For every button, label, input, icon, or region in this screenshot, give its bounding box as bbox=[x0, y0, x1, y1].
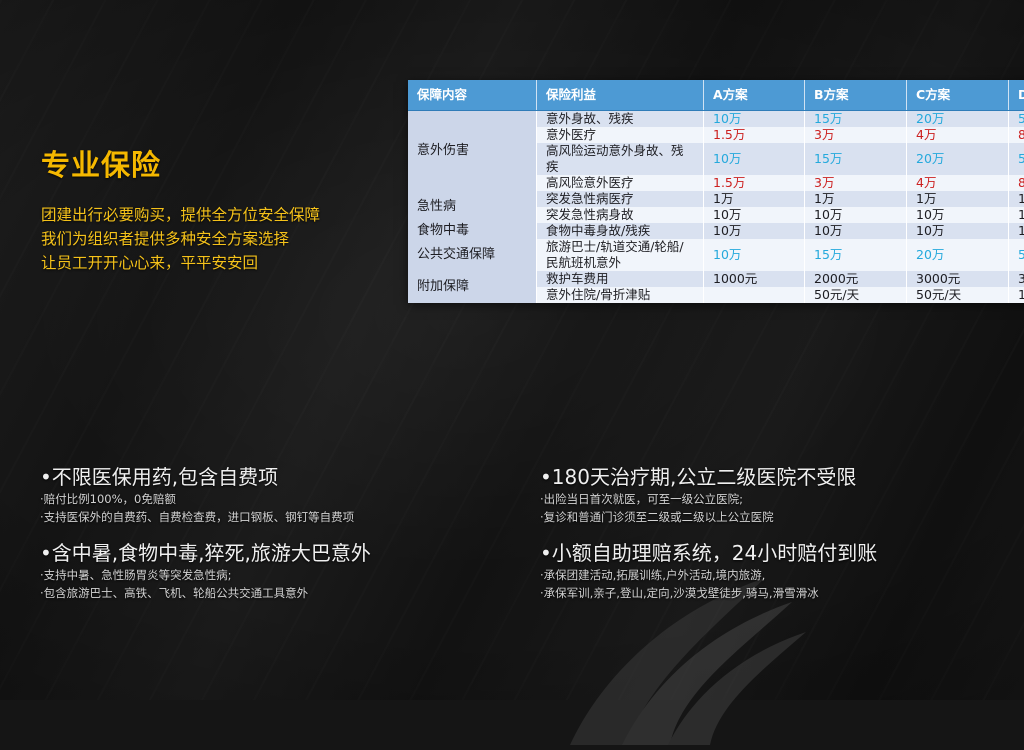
highlight-block-2: •含中暑,食物中毒,猝死,旅游大巴意外 ·支持中暑、急性肠胃炎等突发急性病; ·… bbox=[40, 540, 371, 602]
plan-value-cell: 10万 bbox=[704, 207, 805, 223]
plan-value-cell: 10万 bbox=[704, 223, 805, 239]
highlight-block-1: •不限医保用药,包含自费项 ·赔付比例100%，0免赔额 ·支持医保外的自费药、… bbox=[40, 464, 354, 526]
benefit-cell: 高风险意外医疗 bbox=[537, 175, 704, 191]
plan-value-cell: 4万 bbox=[907, 127, 1009, 143]
table-row: 附加保障救护车费用1000元2000元3000元3000元 bbox=[408, 271, 1024, 287]
benefit-cell: 高风险运动意外身故、残疾 bbox=[537, 143, 704, 175]
table-row: 公共交通保障旅游巴士/轨道交通/轮船/民航班机意外10万15万20万50万 bbox=[408, 239, 1024, 271]
highlight-lead: •小额自助理赔系统，24小时赔付到账 bbox=[540, 540, 877, 566]
plan-value-cell: 10万 bbox=[1009, 207, 1024, 223]
coverage-group-cell: 公共交通保障 bbox=[408, 239, 537, 271]
plan-value-cell: 50元/天 bbox=[907, 287, 1009, 303]
table-header: 保障内容 保险利益 A方案 B方案 C方案 D方案 bbox=[408, 80, 1024, 111]
benefit-cell: 意外住院/骨折津贴 bbox=[537, 287, 704, 303]
plan-value-cell: 1万 bbox=[1009, 191, 1024, 207]
plan-value-cell: 8万 bbox=[1009, 175, 1024, 191]
column-header-plan-c: C方案 bbox=[907, 80, 1009, 111]
highlight-lead: •180天治疗期,公立二级医院不受限 bbox=[540, 464, 856, 490]
coverage-group-cell: 意外伤害 bbox=[408, 111, 537, 192]
plan-value-cell: 10万 bbox=[704, 239, 805, 271]
plan-value-cell: 15万 bbox=[805, 111, 907, 128]
page-subtitle: 团建出行必要购买，提供全方位安全保障 我们为组织者提供多种安全方案选择 让员工开… bbox=[41, 203, 320, 275]
plan-value-cell: 10万 bbox=[805, 223, 907, 239]
highlight-sub: ·包含旅游巴士、高铁、飞机、轮船公共交通工具意外 bbox=[40, 584, 371, 602]
insurance-plan-table: 保障内容 保险利益 A方案 B方案 C方案 D方案 意外伤害意外身故、残疾10万… bbox=[408, 80, 1024, 303]
plan-value-cell: 50万 bbox=[1009, 111, 1024, 128]
highlight-sub: ·支持医保外的自费药、自费检查费，进口钢板、钢钉等自费项 bbox=[40, 508, 354, 526]
plan-value-cell: 3万 bbox=[805, 175, 907, 191]
coverage-group-cell: 附加保障 bbox=[408, 271, 537, 303]
highlight-block-3: •180天治疗期,公立二级医院不受限 ·出险当日首次就医，可至一级公立医院; ·… bbox=[540, 464, 856, 526]
plan-value-cell: 3000元 bbox=[907, 271, 1009, 287]
highlight-sub: ·赔付比例100%，0免赔额 bbox=[40, 490, 354, 508]
plan-value-cell: 10万 bbox=[907, 223, 1009, 239]
plan-value-cell: 2000元 bbox=[805, 271, 907, 287]
plan-value-cell: 50万 bbox=[1009, 143, 1024, 175]
coverage-group-cell: 食物中毒 bbox=[408, 223, 537, 239]
plan-value-cell: 3万 bbox=[805, 127, 907, 143]
highlight-sub: ·复诊和普通门诊须至二级或二级以上公立医院 bbox=[540, 508, 856, 526]
highlight-lead: •不限医保用药,包含自费项 bbox=[40, 464, 354, 490]
plan-value-cell: 10万 bbox=[704, 111, 805, 128]
table-row: 急性病突发急性病医疗1万1万1万1万 bbox=[408, 191, 1024, 207]
column-header-coverage: 保障内容 bbox=[408, 80, 537, 111]
benefit-cell: 突发急性病身故 bbox=[537, 207, 704, 223]
highlight-sub: ·出险当日首次就医，可至一级公立医院; bbox=[540, 490, 856, 508]
highlight-lead: •含中暑,食物中毒,猝死,旅游大巴意外 bbox=[40, 540, 371, 566]
plan-value-cell: 3000元 bbox=[1009, 271, 1024, 287]
plan-value-cell: 50元/天 bbox=[805, 287, 907, 303]
page-title: 专业保险 bbox=[41, 142, 161, 184]
plan-value-cell: 10万 bbox=[805, 207, 907, 223]
coverage-group-cell: 急性病 bbox=[408, 191, 537, 223]
plan-value-cell: 10万 bbox=[907, 207, 1009, 223]
plan-value-cell: 1.5万 bbox=[704, 127, 805, 143]
column-header-plan-a: A方案 bbox=[704, 80, 805, 111]
plan-value-cell: 15万 bbox=[805, 239, 907, 271]
plan-value-cell: 1万 bbox=[704, 191, 805, 207]
plan-value-cell: 10万 bbox=[704, 143, 805, 175]
plan-value-cell: 150元/天 bbox=[1009, 287, 1024, 303]
plan-value-cell: 1万 bbox=[907, 191, 1009, 207]
plan-value-cell: 1.5万 bbox=[704, 175, 805, 191]
table-body: 意外伤害意外身故、残疾10万15万20万50万意外医疗1.5万3万4万8万高风险… bbox=[408, 111, 1024, 304]
column-header-plan-b: B方案 bbox=[805, 80, 907, 111]
highlight-block-4: •小额自助理赔系统，24小时赔付到账 ·承保团建活动,拓展训练,户外活动,境内旅… bbox=[540, 540, 877, 602]
table-row: 意外伤害意外身故、残疾10万15万20万50万 bbox=[408, 111, 1024, 128]
column-header-benefit: 保险利益 bbox=[537, 80, 704, 111]
plan-value-cell: 4万 bbox=[907, 175, 1009, 191]
benefit-cell: 意外身故、残疾 bbox=[537, 111, 704, 128]
benefit-cell: 旅游巴士/轨道交通/轮船/民航班机意外 bbox=[537, 239, 704, 271]
plan-value-cell: 50万 bbox=[1009, 239, 1024, 271]
table-row: 食物中毒食物中毒身故/残疾10万10万10万10万 bbox=[408, 223, 1024, 239]
plan-value-cell: 1万 bbox=[805, 191, 907, 207]
plan-value-cell: 20万 bbox=[907, 239, 1009, 271]
benefit-cell: 意外医疗 bbox=[537, 127, 704, 143]
plan-value-cell: 20万 bbox=[907, 143, 1009, 175]
plan-value-cell: 20万 bbox=[907, 111, 1009, 128]
plan-value-cell bbox=[704, 287, 805, 303]
highlight-sub: ·承保军训,亲子,登山,定向,沙漠戈壁徒步,骑马,滑雪滑冰 bbox=[540, 584, 877, 602]
benefit-cell: 食物中毒身故/残疾 bbox=[537, 223, 704, 239]
column-header-plan-d: D方案 bbox=[1009, 80, 1024, 111]
benefit-cell: 突发急性病医疗 bbox=[537, 191, 704, 207]
table-header-row: 保障内容 保险利益 A方案 B方案 C方案 D方案 bbox=[408, 80, 1024, 111]
highlight-sub: ·承保团建活动,拓展训练,户外活动,境内旅游, bbox=[540, 566, 877, 584]
plan-value-cell: 8万 bbox=[1009, 127, 1024, 143]
highlight-sub: ·支持中暑、急性肠胃炎等突发急性病; bbox=[40, 566, 371, 584]
plan-value-cell: 10万 bbox=[1009, 223, 1024, 239]
plan-value-cell: 1000元 bbox=[704, 271, 805, 287]
benefit-cell: 救护车费用 bbox=[537, 271, 704, 287]
plan-value-cell: 15万 bbox=[805, 143, 907, 175]
